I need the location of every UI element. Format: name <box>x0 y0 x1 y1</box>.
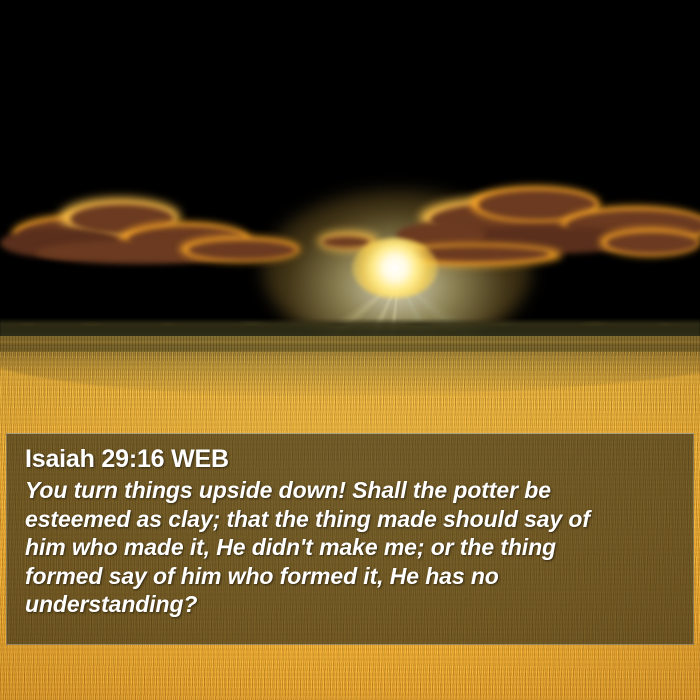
verse-image-canvas: Isaiah 29:16 WEB You turn things upside … <box>0 0 700 700</box>
cloud-shape <box>188 240 296 260</box>
verse-reference: Isaiah 29:16 WEB <box>25 444 677 474</box>
cloud-shape <box>606 232 698 254</box>
cloud-bank <box>0 0 700 340</box>
verse-text: You turn things upside down! Shall the p… <box>25 476 677 619</box>
verse-text-line: understanding? <box>25 590 677 619</box>
verse-text-line: him who made it, He didn't make me; or t… <box>25 533 677 562</box>
verse-text-line: formed say of him who formed it, He has … <box>25 562 677 591</box>
verse-text-line: esteemed as clay; that the thing made sh… <box>25 505 677 534</box>
sun-disc <box>352 238 438 298</box>
verse-overlay-panel: Isaiah 29:16 WEB You turn things upside … <box>6 433 694 645</box>
cloud-shape <box>322 236 370 248</box>
verse-text-line: You turn things upside down! Shall the p… <box>25 476 677 505</box>
